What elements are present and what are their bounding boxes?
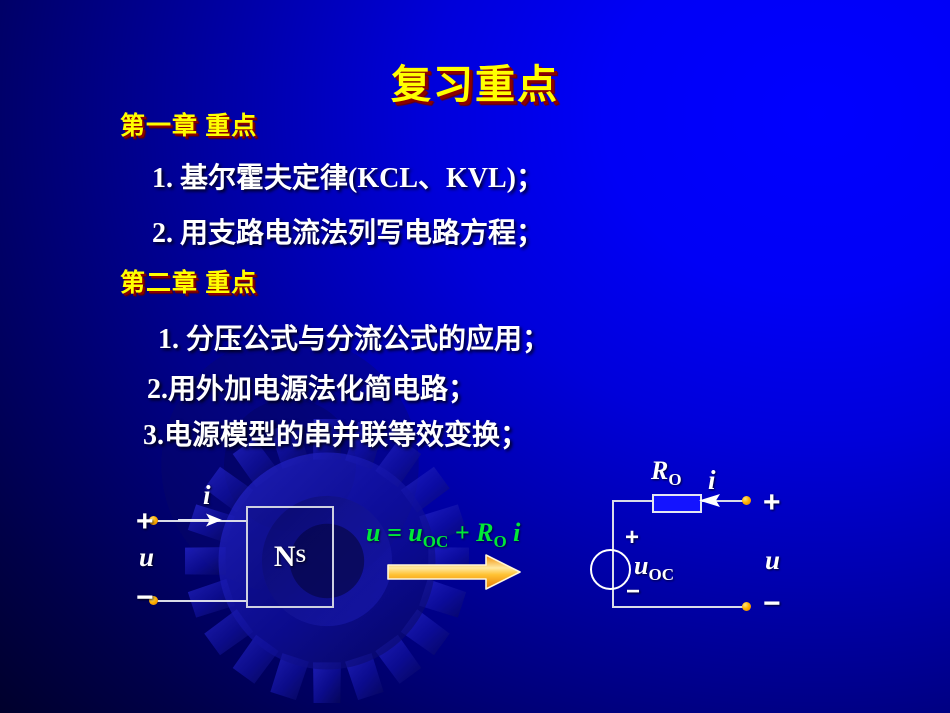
equation-plus: + <box>448 518 476 547</box>
right-circuit-bottom-wire <box>612 606 746 608</box>
resistor-ro <box>652 494 702 513</box>
section-header-chapter-2: 第二章 重点 <box>120 263 257 299</box>
ns-box-label: NS <box>248 508 332 606</box>
right-terminal-dot-bottom <box>742 602 751 611</box>
left-terminal-minus: − <box>136 581 154 615</box>
section-header-chapter-1: 第一章 重点 <box>120 106 257 142</box>
page-title: 复习重点 <box>0 52 950 110</box>
slide-canvas: 复习重点 第一章 重点 1. 基尔霍夫定律(KCL、KVL)； 2. 用支路电流… <box>0 0 950 713</box>
voltage-source-symbol <box>590 549 631 590</box>
ns-box-label-sub: S <box>296 546 307 568</box>
left-voltage-label: u <box>139 542 154 573</box>
resistor-label: RO <box>651 456 682 490</box>
ns-box-label-main: N <box>274 540 296 574</box>
equation-term3: i <box>507 518 521 547</box>
source-plus: + <box>625 524 639 552</box>
equivalence-equation: u = uOC + RO i <box>366 518 520 552</box>
left-current-arrow-icon <box>176 508 232 532</box>
equation-term2: R <box>476 518 493 547</box>
left-circuit-bottom-wire <box>152 600 247 602</box>
equation-term2-sub: O <box>493 532 506 551</box>
right-voltage-label: u <box>765 545 780 576</box>
left-terminal-plus: + <box>136 505 154 539</box>
equation-equals: = <box>380 518 408 547</box>
right-terminal-dot-top <box>742 496 751 505</box>
right-circuit-top-wire-left <box>612 500 654 502</box>
source-minus: − <box>626 578 640 606</box>
resistor-label-main: R <box>651 456 668 485</box>
source-label-sub: OC <box>648 565 674 584</box>
resistor-label-sub: O <box>668 470 681 489</box>
network-box-ns: NS <box>246 506 334 608</box>
right-terminal-minus: − <box>763 587 781 621</box>
bullet-ch2-item-3: 3.电源模型的串并联等效变换； <box>143 413 528 453</box>
right-terminal-plus: + <box>763 486 781 520</box>
right-current-arrow-icon <box>698 491 732 510</box>
bullet-ch2-item-2: 2.用外加电源法化简电路； <box>147 367 476 407</box>
source-label-main: u <box>634 551 648 580</box>
equation-term1-sub: OC <box>423 532 449 551</box>
equation-lhs: u <box>366 518 380 547</box>
equivalence-arrow-icon <box>386 553 522 591</box>
bullet-ch1-item-1: 1. 基尔霍夫定律(KCL、KVL)； <box>152 156 544 196</box>
equation-term1: u <box>408 518 422 547</box>
left-current-label: i <box>203 480 211 511</box>
bullet-ch2-item-1: 1. 分压公式与分流公式的应用； <box>158 317 550 357</box>
bullet-ch1-item-2: 2. 用支路电流法列写电路方程； <box>152 211 544 251</box>
